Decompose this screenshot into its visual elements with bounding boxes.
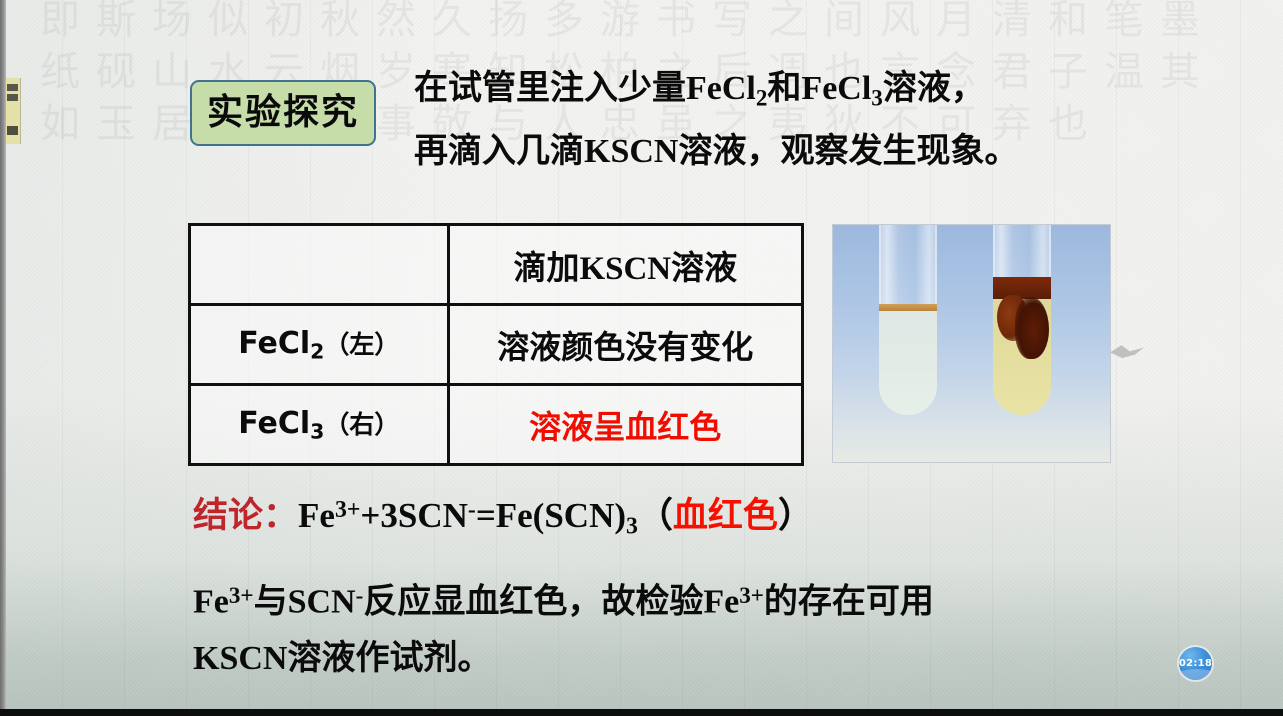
note-fe-charge-2: 3+ — [739, 583, 764, 609]
row-value-fecl3: 溶液呈血红色 — [448, 385, 802, 465]
experiment-tag-label: 实验探究 — [207, 95, 359, 131]
row-label-fecl3: FeCl3（右） — [190, 385, 449, 465]
right-tube-surface-band — [993, 277, 1051, 299]
timer-value: 02:18 — [1179, 658, 1212, 669]
test-tube-photo — [833, 225, 1110, 462]
note-fe: Fe — [193, 584, 229, 621]
conclusion-line: 结论：Fe3++3SCN-=Fe(SCN)3（血红色） — [193, 487, 813, 550]
note-seg-c: 的存在可用 — [764, 584, 934, 621]
prompt-line-2: 再滴入几滴KSCN溶液，观察发生现象。 — [414, 125, 1104, 179]
panel-fragment-line — [7, 94, 18, 101]
table-row: FeCl3（右） 溶液呈血红色 — [190, 385, 803, 465]
timer-badge[interactable]: 02:18 — [1179, 647, 1212, 680]
prompt-line1-mid: 和 — [767, 70, 801, 107]
prompt-formula-fecl3-base: FeCl — [801, 70, 871, 107]
row-value-fecl2: 溶液颜色没有变化 — [448, 305, 802, 385]
prompt-line1-pre: 在试管里注入少量 — [414, 70, 686, 107]
panel-fragment-line — [7, 126, 18, 135]
results-table: 滴加KSCN溶液 FeCl2（左） 溶液颜色没有变化 FeCl3（右） 溶液呈血… — [188, 223, 804, 466]
note-fe-charge: 3+ — [229, 583, 254, 609]
conclusion-label: 结论： — [193, 496, 298, 535]
note-seg-a: 与SCN — [254, 584, 356, 621]
slide-canvas: 即斯场似初秋然久扬多游书写之间风月清和笔墨纸砚山水云烟岁寒知松柏之后凋也言念君子… — [0, 0, 1283, 716]
table-row: FeCl2（左） 溶液颜色没有变化 — [190, 305, 803, 385]
test-tube-right — [993, 225, 1051, 415]
fecl3-sub: 3 — [310, 420, 324, 444]
fecl3-base: FeCl — [238, 406, 310, 441]
eq-product-sub: 3 — [626, 514, 638, 540]
table-header-kscn-cell: 滴加KSCN溶液 — [448, 225, 802, 305]
eq-product: =Fe(SCN) — [476, 496, 626, 535]
table-header-row: 滴加KSCN溶液 — [190, 225, 803, 305]
fecl3-paren: （右） — [324, 412, 399, 439]
note-line-1: Fe3+与SCN-反应显血红色，故检验Fe3+的存在可用 — [193, 568, 1063, 631]
panel-fragment-line — [7, 84, 18, 91]
test-tube-left — [879, 225, 937, 415]
note-block: Fe3+与SCN-反应显血红色，故检验Fe3+的存在可用 KSCN溶液作试剂。 — [193, 568, 1063, 687]
conclusion-color-word: 血红色 — [673, 496, 778, 535]
timer-wave-decoration — [1179, 669, 1212, 680]
prompt-formula-fecl2-sub: 2 — [756, 85, 768, 111]
prompt-line-1: 在试管里注入少量FeCl2和FeCl3溶液， — [414, 62, 1104, 125]
prompt-line1-post: 溶液， — [883, 70, 985, 107]
table-header-corner-cell — [190, 225, 449, 305]
eq-fe: Fe — [298, 496, 335, 535]
prompt-block: 在试管里注入少量FeCl2和FeCl3溶液， 再滴入几滴KSCN溶液，观察发生现… — [414, 62, 1104, 179]
note-seg-b: 反应显血红色，故检验Fe — [363, 584, 739, 621]
bird-decoration-icon — [1110, 344, 1144, 360]
fecl2-paren: （左） — [324, 332, 399, 359]
eq-fe-charge: 3+ — [335, 497, 360, 523]
prompt-formula-fecl3-sub: 3 — [871, 85, 883, 111]
fecl2-sub: 2 — [310, 340, 324, 364]
eq-scn: +3SCN — [360, 496, 467, 535]
prompt-formula-fecl2-base: FeCl — [686, 70, 756, 107]
left-tube-liquid — [879, 307, 937, 415]
conclusion-paren-close: ） — [778, 496, 813, 535]
fecl2-base: FeCl — [238, 326, 310, 361]
left-tube-surface-band — [879, 304, 937, 311]
offscreen-panel-fragment[interactable] — [6, 78, 21, 144]
bottom-letterbox-bar — [0, 709, 1283, 716]
experiment-tag-box: 实验探究 — [190, 80, 376, 146]
conclusion-paren-open: （ — [638, 496, 673, 535]
right-tube-blood-red-swirl — [1015, 297, 1049, 359]
note-line-2: KSCN溶液作试剂。 — [193, 631, 1063, 687]
eq-scn-charge: - — [468, 497, 476, 523]
row-label-fecl2: FeCl2（左） — [190, 305, 449, 385]
